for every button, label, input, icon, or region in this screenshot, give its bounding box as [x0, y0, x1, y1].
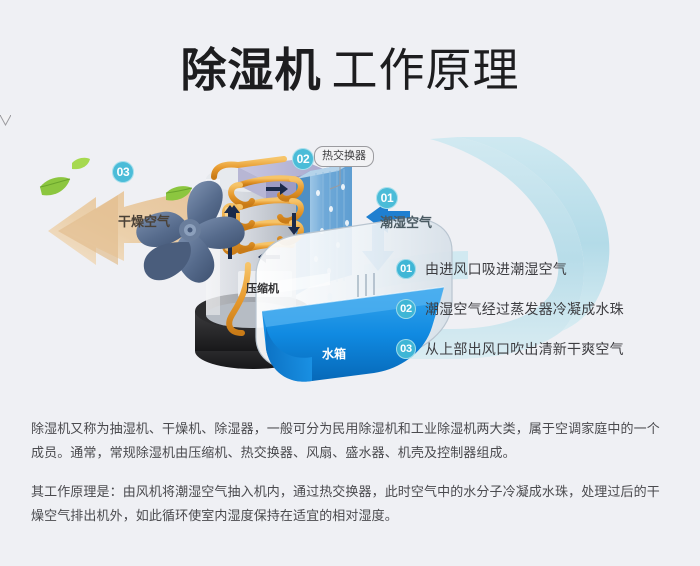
- badge-01-humid-air: 01: [376, 187, 398, 209]
- callout-tail-icon: [0, 115, 11, 126]
- badge-02-heat-exchanger: 02: [292, 148, 314, 170]
- body-copy: 除湿机又称为抽湿机、干燥机、除湿器，一般可分为民用除湿机和工业除湿机两大类，属于…: [31, 417, 671, 528]
- page-title: 除湿机工作原理: [0, 34, 700, 100]
- body-paragraph-1: 除湿机又称为抽湿机、干燥机、除湿器，一般可分为民用除湿机和工业除湿机两大类，属于…: [31, 417, 671, 465]
- legend-item-01: 01 由进风口吸进潮湿空气: [396, 254, 691, 284]
- body-paragraph-2: 其工作原理是：由风机将潮湿空气抽入机内，通过热交换器，此时空气中的水分子冷凝成水…: [31, 480, 671, 528]
- label-dry-air: 干燥空气: [118, 211, 170, 230]
- label-humid-air: 潮湿空气: [380, 212, 432, 231]
- legend-badge-03: 03: [396, 339, 416, 359]
- label-water-tank: 水箱: [322, 345, 346, 362]
- callout-heat-exchanger: 热交换器: [314, 146, 374, 167]
- page-title-main: 除湿机: [181, 44, 322, 96]
- legend-badge-01: 01: [396, 259, 416, 279]
- legend-item-02: 02 潮湿空气经过蒸发器冷凝成水珠: [396, 294, 691, 324]
- label-compressor: 压缩机: [246, 280, 279, 296]
- legend-text-02: 潮湿空气经过蒸发器冷凝成水珠: [425, 299, 624, 319]
- legend-text-01: 由进风口吸进潮湿空气: [425, 259, 567, 279]
- steps-legend: 01 由进风口吸进潮湿空气 02 潮湿空气经过蒸发器冷凝成水珠 03 从上部出风…: [396, 254, 691, 374]
- badge-03-dry-air: 03: [112, 161, 134, 183]
- legend-item-03: 03 从上部出风口吹出清新干爽空气: [396, 334, 691, 364]
- page-title-sub: 工作原理: [332, 44, 520, 96]
- legend-text-03: 从上部出风口吹出清新干爽空气: [425, 339, 624, 359]
- legend-badge-02: 02: [396, 299, 416, 319]
- dehumidifier-infographic: 除湿机工作原理: [0, 0, 700, 566]
